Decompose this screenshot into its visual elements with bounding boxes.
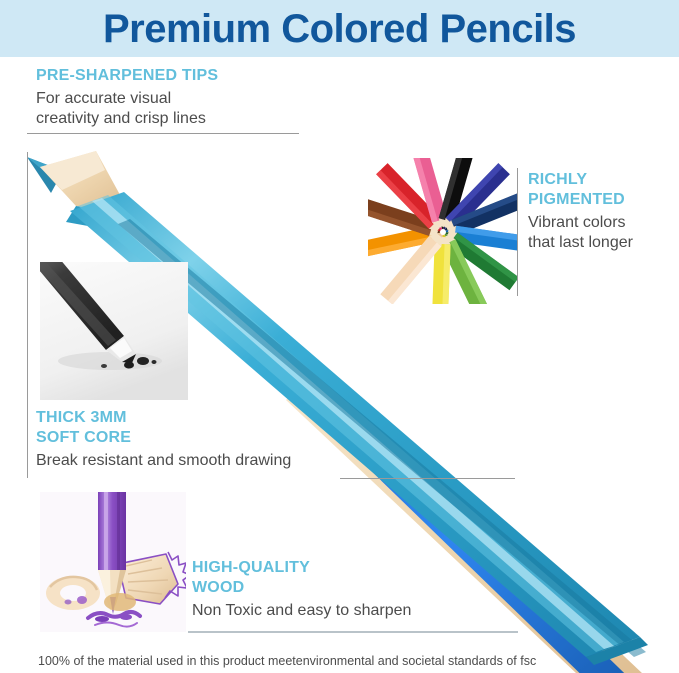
feature-richly-pigmented: RICHLY PIGMENTED Vibrant colors that las… xyxy=(528,170,633,253)
feature-heading-line-2: PIGMENTED xyxy=(528,190,633,210)
divider-right-of-soft-core xyxy=(340,478,515,479)
left-vertical-divider xyxy=(27,152,28,478)
soft-core-photo xyxy=(40,262,188,400)
feature-pre-sharpened-tips: PRE-SHARPENED TIPS For accurate visual c… xyxy=(36,66,218,129)
feature-heading-line-1: HIGH-QUALITY xyxy=(192,558,411,578)
feature-body-line-1: Break resistant and smooth drawing xyxy=(36,451,291,471)
pencil-fan-photo xyxy=(368,158,518,304)
divider-under-pre-sharpened xyxy=(27,133,299,134)
feature-body-line-1: Non Toxic and easy to sharpen xyxy=(192,601,411,621)
feature-heading-line-1: RICHLY xyxy=(528,170,633,190)
feature-body-line-1: Vibrant colors xyxy=(528,213,633,233)
feature-body-line-1: For accurate visual xyxy=(36,89,218,109)
shaving-ring xyxy=(46,576,100,610)
divider-left-of-richly-pigmented xyxy=(517,168,518,296)
feature-body-line-2: creativity and crisp lines xyxy=(36,109,218,129)
secondary-pencil xyxy=(286,368,660,673)
feature-heading-line-2: WOOD xyxy=(192,578,411,598)
footer-note: 100% of the material used in this produc… xyxy=(38,653,536,669)
product-infographic: Premium Colored Pencils xyxy=(0,0,679,673)
feature-heading-line-1: THICK 3MM xyxy=(36,408,291,428)
wood-quality-photo xyxy=(40,492,186,632)
feature-high-quality-wood: HIGH-QUALITY WOOD Non Toxic and easy to … xyxy=(192,558,411,621)
feature-body-line-2: that last longer xyxy=(528,233,633,253)
divider-above-footer xyxy=(188,631,518,633)
page-title: Premium Colored Pencils xyxy=(0,4,679,54)
feature-thick-soft-core: THICK 3MM SOFT CORE Break resistant and … xyxy=(36,408,291,471)
feature-heading: PRE-SHARPENED TIPS xyxy=(36,66,218,86)
feature-heading-line-2: SOFT CORE xyxy=(36,428,291,448)
